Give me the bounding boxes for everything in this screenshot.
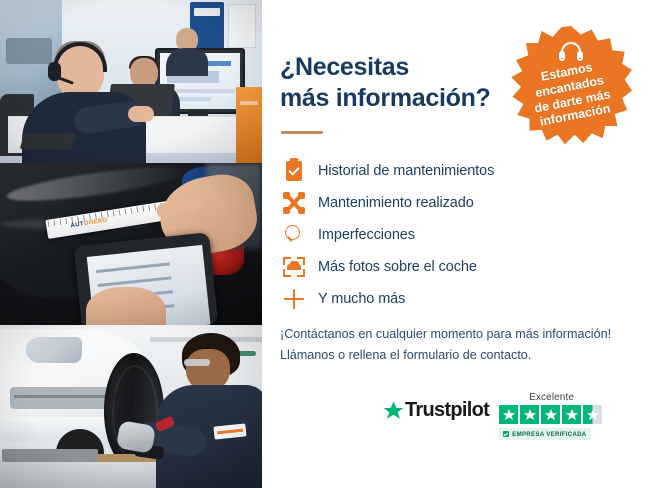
feature-label: Mantenimiento realizado bbox=[318, 195, 474, 211]
focus-car-icon bbox=[280, 255, 308, 279]
feature-item-more: Y mucho más bbox=[280, 283, 610, 315]
feature-label: Historial de mantenimientos bbox=[318, 163, 494, 179]
crossed-tools-icon bbox=[280, 191, 308, 215]
contact-line-1: ¡Contáctanos en cualquier momento para m… bbox=[280, 324, 630, 345]
verified-company-badge: EMPRESA VERIFICADA bbox=[499, 428, 590, 440]
feature-label: Más fotos sobre el coche bbox=[318, 259, 477, 275]
contact-paragraph: ¡Contáctanos en cualquier momento para m… bbox=[280, 324, 630, 366]
content-panel: ¿Necesitas más información? Estamos enca… bbox=[262, 0, 650, 488]
headset-right-earcup bbox=[577, 51, 583, 61]
inspector-hand-lower bbox=[86, 287, 166, 325]
car-inspection-ruler-photo: AUTOHERO bbox=[0, 163, 262, 326]
page-title: ¿Necesitas más información? bbox=[280, 52, 520, 113]
mechanic-wheel-photo bbox=[0, 325, 262, 488]
trustpilot-block: Trustpilot Excelente bbox=[382, 392, 604, 442]
feature-item-maintenance-history: Historial de mantenimientos bbox=[280, 155, 610, 187]
promo-banner: AUTOHERO bbox=[0, 0, 650, 488]
orange-shelf bbox=[236, 87, 262, 163]
headset-left-earcup bbox=[559, 51, 565, 61]
car-grille bbox=[10, 387, 114, 409]
feature-list: Historial de mantenimientos Mantenimient… bbox=[280, 155, 610, 315]
plus-icon bbox=[280, 287, 308, 311]
star-filled-icon bbox=[541, 405, 560, 424]
headset-icon bbox=[559, 42, 583, 62]
feature-label: Y mucho más bbox=[318, 291, 405, 307]
agent-hand bbox=[128, 106, 154, 122]
feature-item-more-photos: Más fotos sobre el coche bbox=[280, 251, 610, 283]
star-filled-icon bbox=[499, 405, 518, 424]
tablet-line bbox=[96, 262, 170, 273]
feature-item-maintenance-done: Mantenimiento realizado bbox=[280, 187, 610, 219]
lift-pad bbox=[2, 449, 98, 462]
magnifier-icon bbox=[280, 223, 308, 247]
star-rating bbox=[499, 405, 604, 424]
mechanic-safety-glasses bbox=[184, 359, 210, 366]
star-filled-icon bbox=[562, 405, 581, 424]
support-badge: Estamos encantados de darte más informac… bbox=[510, 26, 632, 148]
page-title-line-2: más información? bbox=[280, 83, 520, 114]
trustpilot-star-icon bbox=[382, 400, 405, 422]
feature-label: Imperfecciones bbox=[318, 227, 415, 243]
page-title-line-1: ¿Necesitas bbox=[280, 52, 520, 83]
photo-column: AUTOHERO bbox=[0, 0, 262, 488]
mechanic bbox=[146, 333, 262, 488]
feature-item-imperfections: Imperfecciones bbox=[280, 219, 610, 251]
clipboard-check-icon bbox=[280, 159, 308, 183]
verified-check-icon bbox=[503, 431, 509, 437]
call-center-agents-photo bbox=[0, 0, 262, 163]
desk-tablet bbox=[20, 133, 77, 149]
contact-line-2: Llámanos o rellena el formulario de cont… bbox=[280, 345, 630, 366]
wall-poster bbox=[228, 4, 256, 48]
trustpilot-logo: Trustpilot bbox=[382, 399, 489, 422]
star-half-icon bbox=[583, 405, 602, 424]
rating-label: Excelente bbox=[499, 392, 604, 403]
title-divider bbox=[281, 131, 323, 134]
star-filled-icon bbox=[520, 405, 539, 424]
trustpilot-rating: Excelente bbox=[499, 392, 604, 442]
car-headlight bbox=[26, 337, 82, 363]
tablet-line bbox=[98, 276, 172, 287]
trustpilot-wordmark: Trustpilot bbox=[405, 399, 489, 422]
verified-label: EMPRESA VERIFICADA bbox=[512, 431, 586, 438]
